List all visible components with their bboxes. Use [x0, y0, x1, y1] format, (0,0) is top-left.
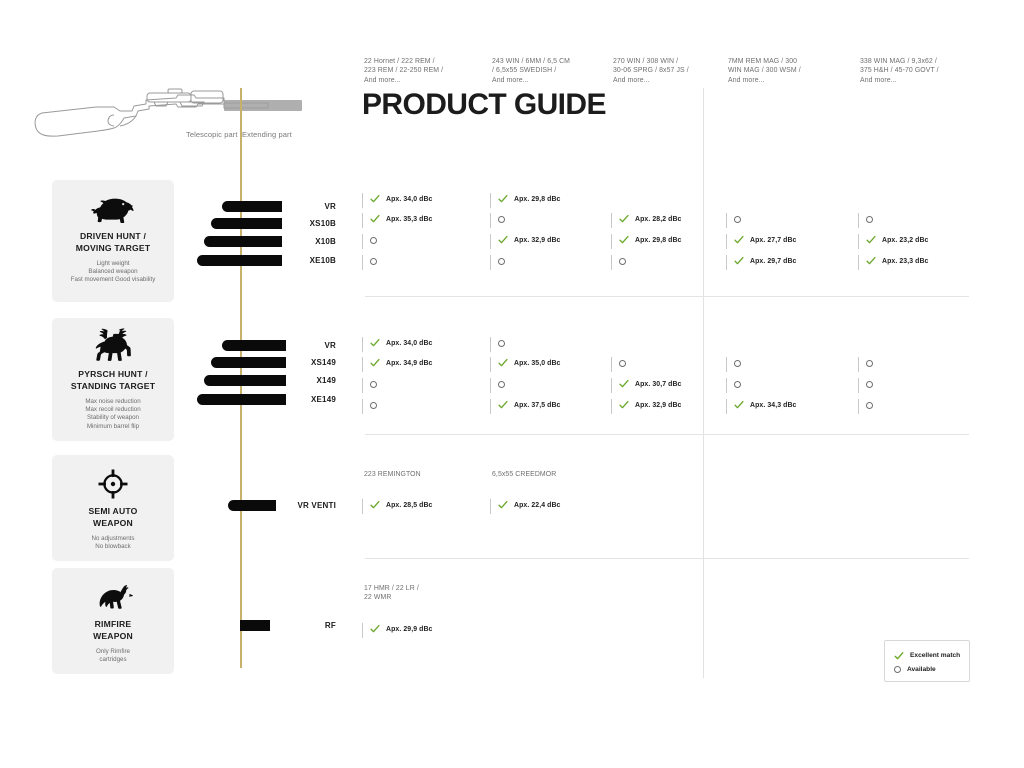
product-bar-label: XE149: [290, 395, 336, 404]
column-header-line: And more...: [613, 76, 723, 85]
match-value: Apx. 28,2 dBc: [635, 216, 682, 223]
product-bar[interactable]: [222, 340, 286, 351]
cell-divider: [490, 357, 491, 372]
check-icon: [498, 499, 508, 510]
cell-divider: [611, 378, 612, 393]
column-header-line: 22 Hornet / 222 REM /: [364, 57, 474, 66]
legend-row-excellent: Excellent match: [894, 650, 960, 661]
cell-divider: [490, 193, 491, 208]
circle-icon: [866, 378, 873, 388]
match-cell[interactable]: Apx. 32,9 dBc: [490, 233, 608, 251]
cell-divider: [490, 337, 491, 352]
check-icon: [619, 399, 629, 410]
cell-divider: [362, 378, 363, 393]
match-cell[interactable]: Apx. 30,7 dBc: [611, 377, 729, 395]
product-bar-diagram: VRXS10BX10BXE10BVRXS149X149XE149VR VENTI…: [0, 0, 340, 768]
match-cell[interactable]: [726, 356, 844, 374]
cell-divider: [611, 399, 612, 414]
match-value: Apx. 35,0 dBc: [514, 360, 561, 367]
section-column-header-line: 22 WMR: [364, 593, 419, 602]
match-cell[interactable]: [726, 212, 844, 230]
check-icon: [370, 357, 380, 368]
column-header: 270 WIN / 308 WIN /30-06 SPRG / 8x57 JS …: [613, 57, 723, 85]
match-cell[interactable]: [362, 377, 480, 395]
column-header-line: 270 WIN / 308 WIN /: [613, 57, 723, 66]
cell-divider: [362, 337, 363, 352]
cell-divider: [490, 234, 491, 249]
match-cell[interactable]: Apx. 29,8 dBc: [490, 192, 608, 210]
cell-divider: [611, 255, 612, 270]
circle-icon: [498, 213, 505, 223]
product-bar-label: VR: [290, 341, 336, 350]
legend-label-excellent: Excellent match: [910, 652, 960, 659]
match-value: Apx. 30,7 dBc: [635, 381, 682, 388]
check-icon: [370, 213, 380, 224]
section-column-header: 223 REMINGTON: [364, 470, 421, 479]
match-cell[interactable]: Apx. 22,4 dBc: [490, 498, 608, 516]
cell-divider: [726, 234, 727, 249]
match-cell[interactable]: [611, 254, 729, 272]
column-header-line: And more...: [492, 76, 602, 85]
product-bar-label: XS10B: [290, 219, 336, 228]
match-cell[interactable]: [858, 212, 976, 230]
cell-divider: [362, 193, 363, 208]
product-bar-label: VR VENTI: [290, 501, 336, 510]
cell-divider: [726, 378, 727, 393]
check-icon: [498, 357, 508, 368]
column-header: 338 WIN MAG / 9,3x62 /375 H&H / 45-70 GO…: [860, 57, 970, 85]
legend-box: Excellent match Available: [884, 640, 970, 682]
match-cell[interactable]: [362, 254, 480, 272]
cell-divider: [490, 213, 491, 228]
column-header-line: 7MM REM MAG / 300: [728, 57, 838, 66]
cell-divider: [490, 499, 491, 514]
product-bar[interactable]: [228, 500, 276, 511]
cell-divider: [611, 213, 612, 228]
column-header-line: And more...: [364, 76, 474, 85]
cell-divider: [726, 255, 727, 270]
column-header-line: 223 REM / 22-250 REM /: [364, 66, 474, 75]
check-icon: [866, 234, 876, 245]
check-icon: [866, 255, 876, 266]
circle-icon: [498, 337, 505, 347]
cell-divider: [858, 255, 859, 270]
match-value: Apx. 22,4 dBc: [514, 502, 561, 509]
cell-divider: [611, 234, 612, 249]
match-cell[interactable]: Apx. 29,7 dBc: [726, 254, 844, 272]
match-cell[interactable]: [490, 377, 608, 395]
match-cell[interactable]: [726, 377, 844, 395]
circle-icon: [619, 255, 626, 265]
cell-divider: [490, 255, 491, 270]
check-icon: [370, 193, 380, 204]
column-header: 22 Hornet / 222 REM /223 REM / 22-250 RE…: [364, 57, 474, 85]
match-cell[interactable]: [858, 377, 976, 395]
circle-icon: [734, 378, 741, 388]
product-bar-label: X149: [290, 376, 336, 385]
product-bar-label: X10B: [290, 237, 336, 246]
column-header-line: And more...: [860, 76, 970, 85]
match-cell[interactable]: Apx. 35,3 dBc: [362, 212, 480, 230]
cell-divider: [726, 213, 727, 228]
circle-icon: [866, 213, 873, 223]
check-icon: [619, 213, 629, 224]
check-icon: [619, 234, 629, 245]
match-cell[interactable]: Apx. 34,0 dBc: [362, 336, 480, 354]
match-cell[interactable]: [490, 336, 608, 354]
cell-divider: [362, 234, 363, 249]
match-cell[interactable]: [858, 398, 976, 416]
column-header-line: 375 H&H / 45-70 GOVT /: [860, 66, 970, 75]
circle-icon: [370, 234, 377, 244]
circle-icon: [370, 255, 377, 265]
circle-icon: [866, 399, 873, 409]
section-divider: [365, 434, 969, 435]
match-value: Apx. 34,0 dBc: [386, 340, 433, 347]
match-cell[interactable]: Apx. 29,9 dBc: [362, 622, 480, 640]
match-cell[interactable]: [490, 212, 608, 230]
match-cell[interactable]: Apx. 28,2 dBc: [611, 212, 729, 230]
match-value: Apx. 23,3 dBc: [882, 258, 929, 265]
section-divider: [365, 296, 969, 297]
cell-divider: [726, 399, 727, 414]
check-icon: [498, 234, 508, 245]
cell-divider: [362, 213, 363, 228]
product-bar-label: XE10B: [290, 256, 336, 265]
match-cell[interactable]: [611, 356, 729, 374]
match-cell[interactable]: [362, 398, 480, 416]
column-header: 7MM REM MAG / 300WIN MAG / 300 WSM /And …: [728, 57, 838, 85]
product-guide-page: Telescopic part Extending part DRIVEN HU…: [0, 0, 1024, 768]
cell-divider: [362, 357, 363, 372]
product-bar[interactable]: [240, 620, 270, 631]
cell-divider: [858, 213, 859, 228]
check-icon: [370, 337, 380, 348]
cell-divider: [858, 399, 859, 414]
product-bar[interactable]: [222, 201, 282, 212]
section-column-header-line: 223 REMINGTON: [364, 470, 421, 479]
match-value: Apx. 34,3 dBc: [750, 402, 797, 409]
cell-divider: [490, 378, 491, 393]
product-bar-label: VR: [290, 202, 336, 211]
column-header: 243 WIN / 6MM / 6,5 CM/ 6,5x55 SWEDISH /…: [492, 57, 602, 85]
column-header-line: And more...: [728, 76, 838, 85]
legend-row-available: Available: [894, 664, 936, 675]
column-header-line: 30-06 SPRG / 8x57 JS /: [613, 66, 723, 75]
match-cell[interactable]: [858, 356, 976, 374]
match-value: Apx. 34,9 dBc: [386, 360, 433, 367]
match-value: Apx. 28,5 dBc: [386, 502, 433, 509]
check-icon: [734, 234, 744, 245]
match-cell[interactable]: Apx. 37,5 dBc: [490, 398, 608, 416]
cell-divider: [858, 234, 859, 249]
circle-icon: [370, 399, 377, 409]
cell-divider: [362, 255, 363, 270]
match-cell[interactable]: Apx. 34,0 dBc: [362, 192, 480, 210]
check-icon: [734, 399, 744, 410]
cell-divider: [858, 357, 859, 372]
circle-icon: [370, 378, 377, 388]
check-icon: [894, 651, 904, 661]
circle-icon: [498, 255, 505, 265]
product-bar[interactable]: [197, 255, 282, 266]
check-icon: [619, 378, 629, 389]
match-cell[interactable]: Apx. 29,8 dBc: [611, 233, 729, 251]
cell-divider: [362, 623, 363, 638]
cell-divider: [611, 357, 612, 372]
product-bar[interactable]: [211, 357, 286, 368]
check-icon: [370, 499, 380, 510]
column-header-line: WIN MAG / 300 WSM /: [728, 66, 838, 75]
product-bar-label: XS149: [290, 358, 336, 367]
match-value: Apx. 35,3 dBc: [386, 216, 433, 223]
match-value: Apx. 29,8 dBc: [635, 237, 682, 244]
check-icon: [370, 623, 380, 634]
match-value: Apx. 32,9 dBc: [635, 402, 682, 409]
match-cell[interactable]: Apx. 28,5 dBc: [362, 498, 480, 516]
circle-icon: [619, 357, 626, 367]
cell-divider: [858, 378, 859, 393]
circle-icon: [894, 666, 901, 673]
match-value: Apx. 29,7 dBc: [750, 258, 797, 265]
section-column-header: 17 HMR / 22 LR /22 WMR: [364, 584, 419, 603]
match-value: Apx. 32,9 dBc: [514, 237, 561, 244]
check-icon: [498, 399, 508, 410]
match-cell[interactable]: Apx. 23,2 dBc: [858, 233, 976, 251]
match-cell[interactable]: [362, 233, 480, 251]
check-icon: [734, 255, 744, 266]
circle-icon: [734, 213, 741, 223]
cell-divider: [490, 399, 491, 414]
column-header-line: 338 WIN MAG / 9,3x62 /: [860, 57, 970, 66]
product-bar[interactable]: [197, 394, 286, 405]
match-cell[interactable]: Apx. 23,3 dBc: [858, 254, 976, 272]
match-value: Apx. 34,0 dBc: [386, 196, 433, 203]
product-bar[interactable]: [204, 236, 282, 247]
match-cell[interactable]: Apx. 35,0 dBc: [490, 356, 608, 374]
check-icon: [498, 193, 508, 204]
match-value: Apx. 37,5 dBc: [514, 402, 561, 409]
cell-divider: [726, 357, 727, 372]
match-cell[interactable]: Apx. 32,9 dBc: [611, 398, 729, 416]
section-column-header: 6,5x55 CREEDMOR: [492, 470, 556, 479]
section-column-header-line: 17 HMR / 22 LR /: [364, 584, 419, 593]
product-bar-label: RF: [290, 621, 336, 630]
product-bar[interactable]: [204, 375, 286, 386]
legend-label-available: Available: [907, 666, 936, 673]
circle-icon: [734, 357, 741, 367]
match-value: Apx. 29,8 dBc: [514, 196, 561, 203]
match-cell[interactable]: Apx. 27,7 dBc: [726, 233, 844, 251]
circle-icon: [498, 378, 505, 388]
match-value: Apx. 27,7 dBc: [750, 237, 797, 244]
match-value: Apx. 29,9 dBc: [386, 626, 433, 633]
circle-icon: [866, 357, 873, 367]
page-title: PRODUCT GUIDE: [362, 88, 606, 122]
section-column-header-line: 6,5x55 CREEDMOR: [492, 470, 556, 479]
match-cell[interactable]: Apx. 34,9 dBc: [362, 356, 480, 374]
match-cell[interactable]: [490, 254, 608, 272]
cell-divider: [362, 499, 363, 514]
match-cell[interactable]: Apx. 34,3 dBc: [726, 398, 844, 416]
column-header-line: / 6,5x55 SWEDISH /: [492, 66, 602, 75]
cell-divider: [362, 399, 363, 414]
column-header-line: 243 WIN / 6MM / 6,5 CM: [492, 57, 602, 66]
match-value: Apx. 23,2 dBc: [882, 237, 929, 244]
product-bar[interactable]: [211, 218, 282, 229]
section-divider: [365, 558, 969, 559]
